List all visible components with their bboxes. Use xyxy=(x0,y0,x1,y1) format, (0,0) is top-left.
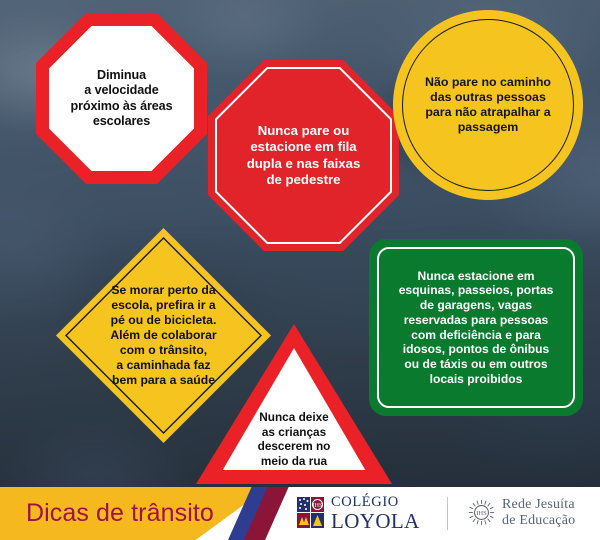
loyola-crest-icon: IHS xyxy=(297,497,324,530)
sign-no-double-parking: Nunca pare ou estacione em fila dupla e … xyxy=(208,60,399,251)
loyola-line1: COLÉGIO xyxy=(331,495,420,510)
sign-text: Nunca pare ou estacione em fila dupla e … xyxy=(208,60,399,251)
sign-dont-drop-children-midstreet: Nunca deixe as crianças descerem no meio… xyxy=(196,324,392,484)
loyola-wordmark: COLÉGIO LOYOLA xyxy=(331,495,420,532)
bottom-banner: Dicas de trânsito IHS COLÉGIO LOYOLA xyxy=(0,487,600,540)
svg-text:IHS: IHS xyxy=(476,510,487,517)
sign-no-parking-zones: Nunca estacione em esquinas, passeios, p… xyxy=(369,239,583,416)
banner-title: Dicas de trânsito xyxy=(26,487,214,540)
sign-text: Nunca deixe as crianças descerem no meio… xyxy=(196,324,392,484)
logo-divider xyxy=(447,497,448,530)
sign-text: Diminua a velocidade próximo às áreas es… xyxy=(36,13,207,184)
logo-rede-jesuita: IHS Rede Jesuíta de Educação xyxy=(468,496,575,529)
rje-wordmark: Rede Jesuíta de Educação xyxy=(502,498,575,528)
rje-line1: Rede Jesuíta xyxy=(502,498,575,512)
rje-line2: de Educação xyxy=(502,514,575,528)
sign-dont-block-path: Não pare no caminho das outras pessoas p… xyxy=(393,10,583,200)
logo-colegio-loyola: IHS COLÉGIO LOYOLA xyxy=(297,495,420,532)
sign-reduce-speed: Diminua a velocidade próximo às áreas es… xyxy=(36,13,207,184)
ihs-sunburst-icon: IHS xyxy=(468,496,495,529)
loyola-line2: LOYOLA xyxy=(331,511,420,532)
sign-text: Não pare no caminho das outras pessoas p… xyxy=(393,10,583,200)
infographic-canvas: Diminua a velocidade próximo às áreas es… xyxy=(0,0,600,540)
sign-text: Nunca estacione em esquinas, passeios, p… xyxy=(369,239,583,416)
svg-text:IHS: IHS xyxy=(313,503,323,509)
